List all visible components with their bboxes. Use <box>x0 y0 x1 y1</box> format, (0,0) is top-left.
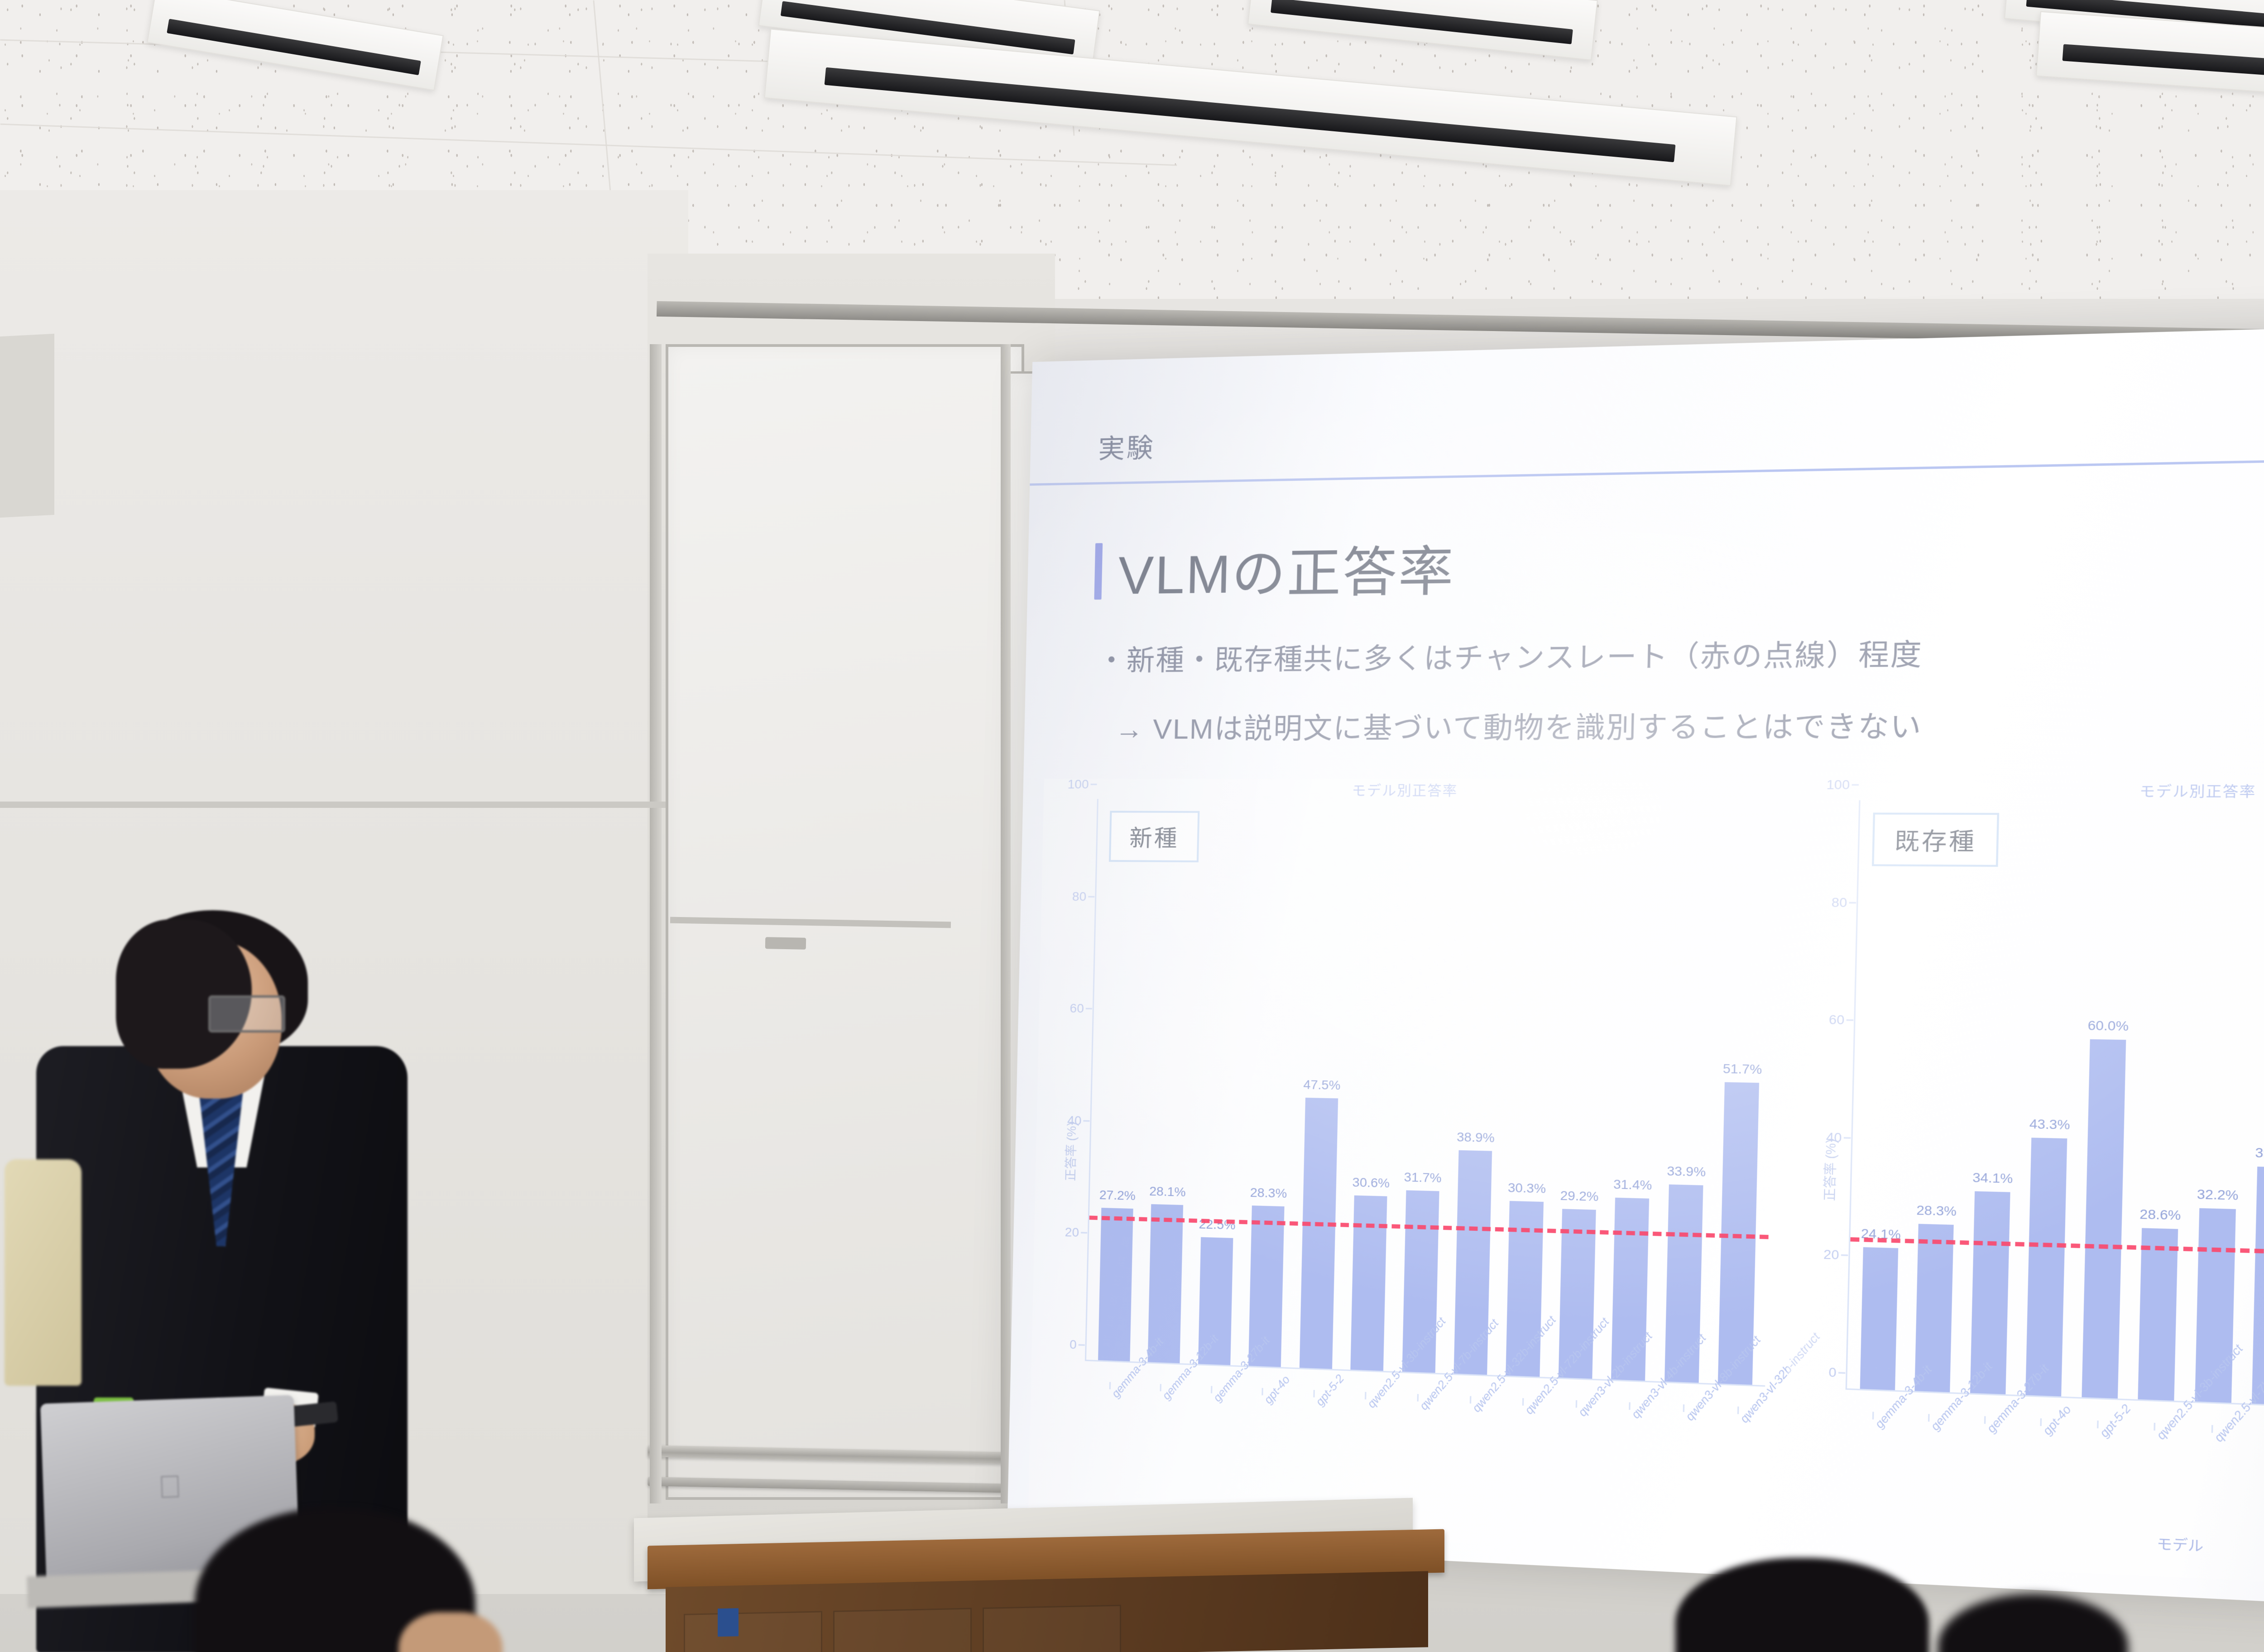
chart-bar-value-label: 28.3% <box>1250 1185 1287 1201</box>
chart-bar: 43.3% <box>2025 1138 2067 1396</box>
y-tick: 80 <box>1072 889 1097 904</box>
chart-bar-value-label: 28.1% <box>1149 1184 1186 1199</box>
y-tick: 60 <box>1070 1001 1094 1016</box>
chart-x-tick-mark <box>1365 1392 1366 1399</box>
chart-bar: 28.6% <box>2138 1228 2178 1401</box>
chart-x-tick-mark <box>1872 1412 1874 1420</box>
y-tick: 80 <box>1832 895 1858 910</box>
chart-bar-value-label: 29.2% <box>1560 1188 1598 1204</box>
chart-x-tick-mark <box>1262 1388 1263 1395</box>
chart-y-axis-label: 正答率 (%) <box>1819 1138 1840 1201</box>
chart-plot-area: 既存種 0 20 40 60 80 100 24.1%28.3%34.1%43.… <box>1846 800 2264 1418</box>
slide-bullet-2: → VLMは説明文に基づいて動物を識別することはできない <box>1115 702 1923 747</box>
podium-panel <box>833 1608 972 1652</box>
chart-bar-value-label: 34.1% <box>1972 1170 2013 1186</box>
y-tick: 100 <box>1826 777 1861 792</box>
presenter-glasses <box>208 995 285 1032</box>
podium-panel <box>684 1611 822 1652</box>
whiteboard-frame-post <box>1001 344 1011 1503</box>
chart-title: モデル別正答率 <box>1044 779 1783 800</box>
chart-x-tick-label: gpt-4o <box>1262 1373 1293 1407</box>
chair-back <box>5 1159 82 1386</box>
presentation-slide: 19 実験 VLMの正答率 ・新種・既存種共に多くはチャンスレート（赤の点線）程… <box>1007 319 2264 1618</box>
chart-existing-species: モデル別正答率 正答率 (%) 既存種 0 20 40 60 80 100 24… <box>1783 779 2264 1598</box>
y-tick: 40 <box>1067 1113 1092 1128</box>
chart-bar: 27.2% <box>1098 1208 1133 1362</box>
chart-bar-value-label: 31.7% <box>1404 1170 1442 1186</box>
chart-x-tick-mark <box>1522 1398 1524 1406</box>
charts-container: モデル別正答率 正答率 (%) 新種 0 20 40 60 80 100 27.… <box>1028 779 2264 1598</box>
chart-x-tick-mark <box>1109 1382 1111 1389</box>
photo-scene: 19 実験 VLMの正答率 ・新種・既存種共に多くはチャンスレート（赤の点線）程… <box>0 0 2264 1652</box>
chart-bar-value-label: 38.9% <box>1457 1130 1495 1146</box>
chart-bars: 24.1%28.3%34.1%43.3%60.0%28.6%32.2%39.3%… <box>1847 800 2264 1417</box>
y-tick: 40 <box>1826 1130 1853 1146</box>
chart-bar-value-label: 60.0% <box>2087 1018 2129 1034</box>
y-tick: 20 <box>1065 1225 1089 1240</box>
chart-bar-value-label: 33.9% <box>1667 1164 1706 1180</box>
chart-bars: 27.2%28.1%22.5%28.3%47.5%30.6%31.7%38.9%… <box>1086 799 1779 1385</box>
slide-title: VLMの正答率 <box>1118 528 1456 610</box>
chart-x-tick-label: gpt-5-2 <box>1313 1372 1347 1409</box>
title-accent-bar <box>1094 543 1103 600</box>
chart-bar-value-label: 47.5% <box>1303 1077 1341 1093</box>
apple-logo-icon:  <box>158 1468 182 1505</box>
chart-bar: 47.5% <box>1299 1098 1338 1369</box>
podium-label-sticker <box>718 1608 739 1637</box>
chart-x-tick-mark <box>2154 1423 2156 1431</box>
chart-x-tick-mark <box>1984 1416 1986 1424</box>
chart-bar-value-label: 51.7% <box>1722 1061 1762 1077</box>
y-tick: 0 <box>1070 1337 1087 1352</box>
whiteboard-handle <box>765 937 806 950</box>
whiteboard-frame-post <box>650 344 662 1503</box>
slide-title-row: VLMの正答率 <box>1094 528 1456 610</box>
wall-corner <box>0 334 54 518</box>
chart-bar-value-label: 30.3% <box>1508 1181 1546 1196</box>
chart-bar-value-label: 43.3% <box>2029 1116 2070 1133</box>
y-tick: 100 <box>1067 777 1098 792</box>
chart-x-tick-mark <box>2097 1421 2099 1428</box>
chart-x-tick-mark <box>1683 1404 1685 1412</box>
chart-bar: 34.1% <box>1970 1191 2010 1394</box>
chart-x-tick-labels: gemma-3-4b-itgemma-3-12b-itgemma-3-27b-i… <box>1084 1388 1765 1415</box>
chart-y-axis-label: 正答率 (%) <box>1060 1122 1079 1181</box>
chart-x-tick-mark <box>1417 1394 1419 1402</box>
chart-x-tick-mark <box>1629 1402 1631 1410</box>
chart-x-tick-label: gpt-5-2 <box>2097 1402 2134 1441</box>
chart-x-tick-mark <box>1928 1414 1930 1421</box>
chart-bar: 24.1% <box>1860 1247 1898 1390</box>
slide-header-rule <box>1030 453 2264 485</box>
chart-x-tick-mark <box>1469 1396 1471 1404</box>
y-tick: 20 <box>1823 1247 1850 1263</box>
chart-x-tick-label: gpt-4o <box>2040 1403 2074 1438</box>
projection-screen: 19 実験 VLMの正答率 ・新種・既存種共に多くはチャンスレート（赤の点線）程… <box>1020 362 2264 1540</box>
chart-bar-value-label: 27.2% <box>1099 1187 1136 1203</box>
chart-x-tick-mark <box>1211 1386 1212 1393</box>
chart-bar-value-label: 31.4% <box>1613 1177 1652 1193</box>
chart-bar: 30.6% <box>1350 1195 1387 1371</box>
chart-x-tick-mark <box>1576 1400 1578 1408</box>
chart-bar-value-label: 30.6% <box>1352 1175 1390 1191</box>
y-tick: 0 <box>1828 1365 1847 1381</box>
chart-x-tick-mark <box>1737 1407 1739 1414</box>
chart-new-species: モデル別正答率 正答率 (%) 新種 0 20 40 60 80 100 27.… <box>1028 779 1783 1557</box>
wall-trim <box>0 802 666 808</box>
y-tick: 60 <box>1829 1012 1856 1028</box>
chart-x-tick-mark <box>2040 1418 2042 1426</box>
chart-bar: 39.3% <box>2252 1167 2264 1405</box>
podium-panel <box>983 1605 1121 1652</box>
slide-section-kicker: 実験 <box>1098 426 1156 466</box>
chart-x-tick-labels: gemma-3-4b-itgemma-3-12b-itgemma-3-27b-i… <box>1845 1418 2264 1448</box>
chart-x-tick-mark <box>1160 1384 1161 1391</box>
chart-title: モデル別正答率 <box>1800 779 2264 802</box>
chart-bar-value-label: 32.2% <box>2197 1186 2239 1203</box>
chart-bar-value-label: 28.6% <box>2139 1207 2181 1224</box>
slide-bullet-1: ・新種・既存種共に多くはチャンスレート（赤の点線）程度 <box>1097 631 1923 679</box>
chart-x-tick-mark <box>1313 1390 1314 1397</box>
chart-plot-area: 新種 0 20 40 60 80 100 27.2%28.1%22.5%28.3… <box>1085 799 1779 1387</box>
wooden-podium <box>648 1529 1444 1652</box>
chart-x-tick-mark <box>2211 1425 2213 1433</box>
chart-bar: 60.0% <box>2082 1039 2126 1398</box>
chart-bar-value-label: 28.3% <box>1916 1203 1957 1219</box>
chart-bar-value-label: 39.3% <box>2255 1145 2264 1162</box>
